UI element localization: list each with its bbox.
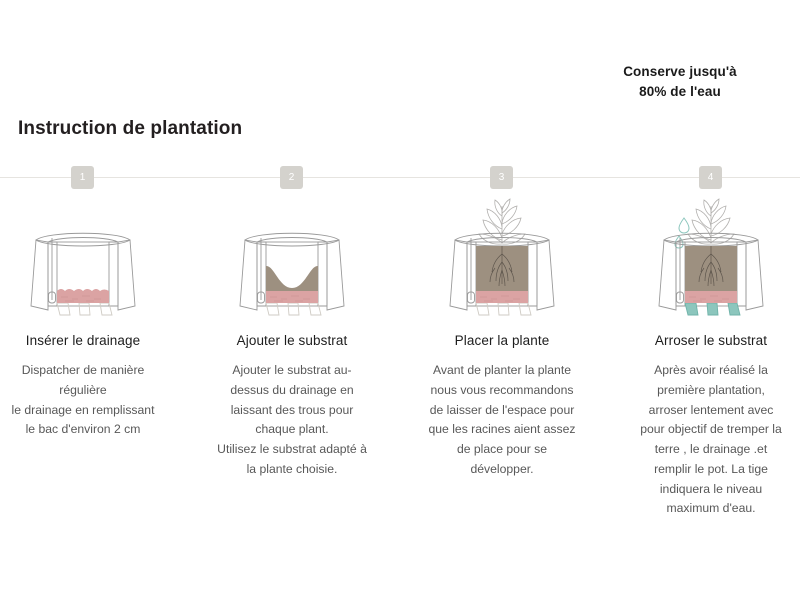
step-title-1: Insérer le drainage — [0, 333, 181, 348]
water-conservation-claim: Conserve jusqu'à 80% de l'eau — [590, 62, 770, 101]
step-badge-3[interactable]: 3 — [490, 166, 513, 189]
step-column-2: Ajouter le substrat Ajouter le substrat … — [194, 196, 390, 480]
water-droplet-icon — [675, 218, 689, 248]
illustration-pot-with-substrate — [194, 196, 390, 318]
step-body-1: Dispatcher de manièrerégulièrele drainag… — [0, 361, 181, 440]
drainage-layer — [685, 291, 737, 303]
illustration-pot-with-plant — [404, 196, 600, 318]
water-reservoir — [685, 303, 740, 315]
illustration-pot-with-drainage — [0, 196, 181, 318]
water-claim-line-2: 80% de l'eau — [590, 82, 770, 102]
step-title-2: Ajouter le substrat — [194, 333, 390, 348]
water-claim-line-1: Conserve jusqu'à — [590, 62, 770, 82]
drainage-layer — [266, 291, 318, 303]
step-body-3: Avant de planter la plantenous vous reco… — [404, 361, 600, 480]
step-title-4: Arroser le substrat — [613, 333, 800, 348]
illustration-pot-watered — [613, 196, 800, 318]
drainage-layer — [57, 289, 109, 303]
step-column-4: Arroser le substrat Après avoir réalisé … — [613, 196, 800, 519]
substrate-layer — [266, 266, 318, 292]
drainage-layer — [476, 291, 528, 303]
step-title-3: Placer la plante — [404, 333, 600, 348]
page-title: Instruction de plantation — [18, 118, 242, 140]
step-badge-1[interactable]: 1 — [71, 166, 94, 189]
step-badge-4[interactable]: 4 — [699, 166, 722, 189]
instruction-page: Conserve jusqu'à 80% de l'eau Instructio… — [0, 0, 800, 589]
step-body-2: Ajouter le substrat au-dessus du drainag… — [194, 361, 390, 480]
step-badge-2[interactable]: 2 — [280, 166, 303, 189]
timeline-rule — [0, 177, 800, 178]
step-column-1: Insérer le drainage Dispatcher de manièr… — [0, 196, 181, 440]
step-column-3: Placer la plante Avant de planter la pla… — [404, 196, 600, 480]
step-body-4: Après avoir réalisé lapremière plantatio… — [613, 361, 800, 519]
